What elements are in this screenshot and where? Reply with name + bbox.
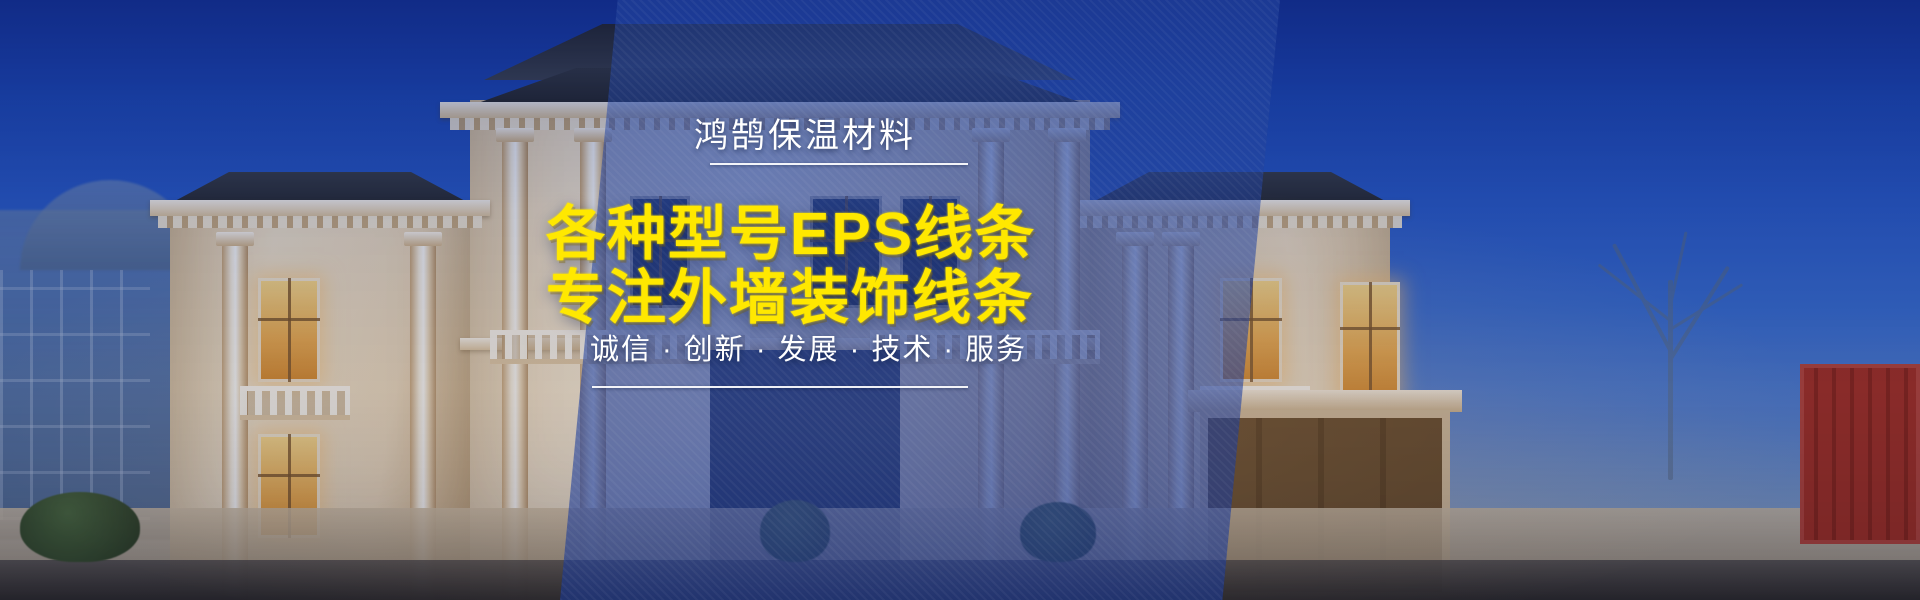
divider-bottom [592, 386, 968, 388]
brand-subtitle: 鸿鹄保温材料 [694, 108, 916, 157]
headline-line-2: 专注外墙装饰线条 [546, 250, 1034, 335]
tagline: 诚信 · 创新 · 发展 · 技术 · 服务 [590, 326, 1027, 368]
divider-top [710, 163, 968, 165]
banner-content: 鸿鹄保温材料 各种型号EPS线条 专注外墙装饰线条 诚信 · 创新 · 发展 ·… [0, 0, 1920, 600]
promo-banner: 鸿鹄保温材料 各种型号EPS线条 专注外墙装饰线条 诚信 · 创新 · 发展 ·… [0, 0, 1920, 600]
